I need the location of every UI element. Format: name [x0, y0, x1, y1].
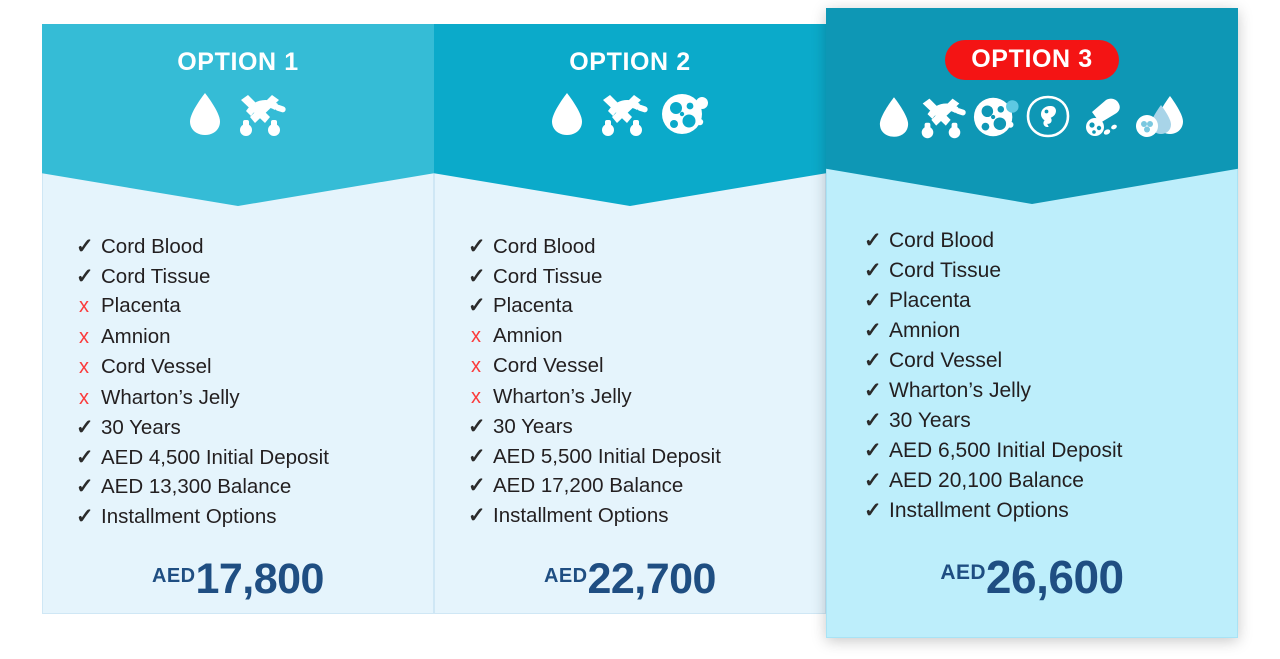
- list-item: xCord Vessel: [468, 351, 792, 382]
- card-icon-row: [826, 94, 1238, 140]
- cord-clamp-icon: [232, 91, 288, 137]
- check-icon: ✓: [76, 413, 92, 443]
- feature-label: Cord Blood: [101, 232, 204, 262]
- card-header: OPTION 2: [434, 24, 826, 206]
- check-icon: ✓: [864, 316, 880, 346]
- feature-label: Cord Tissue: [493, 262, 602, 292]
- check-icon: ✓: [468, 291, 484, 321]
- feature-label: AED 4,500 Initial Deposit: [101, 443, 329, 473]
- check-icon: ✓: [76, 262, 92, 292]
- feature-label: Amnion: [493, 321, 563, 351]
- feature-label: Cord Tissue: [889, 256, 1001, 286]
- price: AED 22,700: [434, 558, 826, 601]
- currency-label: AED: [940, 554, 986, 585]
- check-icon: ✓: [864, 226, 880, 256]
- check-icon: ✓: [76, 232, 92, 262]
- feature-label: Placenta: [889, 286, 971, 316]
- list-item: ✓Placenta: [864, 286, 1200, 316]
- check-icon: ✓: [864, 466, 880, 496]
- droplet-icon: [188, 91, 222, 137]
- currency-label: AED: [152, 558, 195, 588]
- feature-label: AED 20,100 Balance: [889, 466, 1084, 496]
- feature-label: Placenta: [101, 291, 181, 321]
- card-title: OPTION 1: [42, 24, 434, 75]
- list-item: ✓AED 20,100 Balance: [864, 466, 1200, 496]
- feature-label: Installment Options: [493, 501, 668, 531]
- check-icon: ✓: [468, 471, 484, 501]
- card-title-wrap: OPTION 3: [826, 8, 1238, 80]
- list-item: ✓Cord Blood: [468, 232, 792, 262]
- check-icon: ✓: [864, 406, 880, 436]
- pricing-card-option-1[interactable]: OPTION 1: [42, 24, 434, 614]
- list-item: ✓AED 17,200 Balance: [468, 471, 792, 501]
- list-item: xWharton’s Jelly: [468, 382, 792, 413]
- check-icon: ✓: [864, 286, 880, 316]
- card-icon-row: [434, 91, 826, 137]
- cross-icon: x: [468, 322, 484, 352]
- check-icon: ✓: [468, 262, 484, 292]
- price-amount: 17,800: [195, 558, 324, 601]
- droplet-icon: [878, 94, 910, 140]
- feature-list: ✓Cord Blood ✓Cord Tissue ✓Placenta xAmni…: [434, 232, 826, 530]
- pricing-comparison: OPTION 1: [0, 0, 1280, 659]
- list-item: ✓Cord Blood: [864, 226, 1200, 256]
- card-header: OPTION 3: [826, 8, 1238, 204]
- cord-clamp-icon: [594, 91, 650, 137]
- feature-label: Cord Vessel: [493, 351, 604, 381]
- list-item: ✓Cord Blood: [76, 232, 400, 262]
- list-item: xWharton’s Jelly: [76, 383, 400, 414]
- card-title: OPTION 2: [434, 24, 826, 75]
- price-amount: 22,700: [587, 558, 716, 601]
- check-icon: ✓: [468, 412, 484, 442]
- feature-label: AED 17,200 Balance: [493, 471, 683, 501]
- list-item: xPlacenta: [76, 291, 400, 322]
- cord-vessel-icon: [1076, 94, 1126, 140]
- status-badge: OPTION 3: [945, 40, 1119, 80]
- feature-label: Cord Blood: [889, 226, 994, 256]
- feature-label: Wharton’s Jelly: [101, 383, 240, 413]
- check-icon: ✓: [76, 502, 92, 532]
- list-item: ✓Amnion: [864, 316, 1200, 346]
- feature-label: Installment Options: [101, 502, 276, 532]
- droplet-icon: [550, 91, 584, 137]
- check-icon: ✓: [76, 472, 92, 502]
- price-amount: 26,600: [986, 554, 1124, 600]
- cells-icon: [660, 91, 710, 137]
- list-item: ✓30 Years: [864, 406, 1200, 436]
- jelly-droplet-icon: [1130, 94, 1186, 140]
- cross-icon: x: [76, 292, 92, 322]
- feature-label: Placenta: [493, 291, 573, 321]
- currency-label: AED: [544, 558, 587, 588]
- list-item: ✓AED 5,500 Initial Deposit: [468, 442, 792, 472]
- cells-icon: [972, 94, 1020, 140]
- cross-icon: x: [76, 384, 92, 414]
- list-item: ✓Cord Tissue: [864, 256, 1200, 286]
- feature-label: Wharton’s Jelly: [889, 376, 1031, 406]
- list-item: ✓Placenta: [468, 291, 792, 321]
- check-icon: ✓: [468, 442, 484, 472]
- check-icon: ✓: [864, 256, 880, 286]
- check-icon: ✓: [76, 443, 92, 473]
- cross-icon: x: [76, 323, 92, 353]
- list-item: xAmnion: [468, 321, 792, 352]
- list-item: ✓30 Years: [76, 413, 400, 443]
- feature-label: AED 6,500 Initial Deposit: [889, 436, 1122, 466]
- feature-label: Wharton’s Jelly: [493, 382, 632, 412]
- list-item: ✓Cord Tissue: [76, 262, 400, 292]
- check-icon: ✓: [864, 376, 880, 406]
- pricing-card-option-3[interactable]: OPTION 3: [826, 8, 1238, 638]
- check-icon: ✓: [864, 496, 880, 526]
- price: AED 17,800: [42, 558, 434, 601]
- price: AED 26,600: [826, 554, 1238, 600]
- card-icon-row: [42, 91, 434, 137]
- cross-icon: x: [468, 352, 484, 382]
- check-icon: ✓: [468, 232, 484, 262]
- list-item: ✓AED 13,300 Balance: [76, 472, 400, 502]
- feature-list: ✓Cord Blood ✓Cord Tissue ✓Placenta ✓Amni…: [826, 226, 1238, 526]
- feature-list: ✓Cord Blood ✓Cord Tissue xPlacenta xAmni…: [42, 232, 434, 531]
- card-header: OPTION 1: [42, 24, 434, 206]
- feature-label: Cord Vessel: [101, 352, 212, 382]
- list-item: ✓Cord Tissue: [468, 262, 792, 292]
- embryo-icon: [1024, 94, 1072, 140]
- cross-icon: x: [468, 383, 484, 413]
- check-icon: ✓: [468, 501, 484, 531]
- list-item: xAmnion: [76, 322, 400, 353]
- feature-label: 30 Years: [493, 412, 573, 442]
- list-item: ✓Installment Options: [76, 502, 400, 532]
- feature-label: Amnion: [889, 316, 960, 346]
- list-item: ✓Wharton’s Jelly: [864, 376, 1200, 406]
- feature-label: AED 13,300 Balance: [101, 472, 291, 502]
- pricing-card-option-2[interactable]: OPTION 2: [434, 24, 826, 614]
- feature-label: 30 Years: [889, 406, 971, 436]
- list-item: ✓Installment Options: [468, 501, 792, 531]
- check-icon: ✓: [864, 346, 880, 376]
- list-item: ✓AED 6,500 Initial Deposit: [864, 436, 1200, 466]
- list-item: ✓AED 4,500 Initial Deposit: [76, 443, 400, 473]
- cord-clamp-icon: [914, 94, 968, 140]
- list-item: ✓Installment Options: [864, 496, 1200, 526]
- list-item: xCord Vessel: [76, 352, 400, 383]
- feature-label: Cord Vessel: [889, 346, 1002, 376]
- feature-label: Amnion: [101, 322, 171, 352]
- check-icon: ✓: [864, 436, 880, 466]
- feature-label: 30 Years: [101, 413, 181, 443]
- feature-label: AED 5,500 Initial Deposit: [493, 442, 721, 472]
- feature-label: Cord Blood: [493, 232, 596, 262]
- feature-label: Cord Tissue: [101, 262, 210, 292]
- feature-label: Installment Options: [889, 496, 1069, 526]
- list-item: ✓Cord Vessel: [864, 346, 1200, 376]
- cross-icon: x: [76, 353, 92, 383]
- list-item: ✓30 Years: [468, 412, 792, 442]
